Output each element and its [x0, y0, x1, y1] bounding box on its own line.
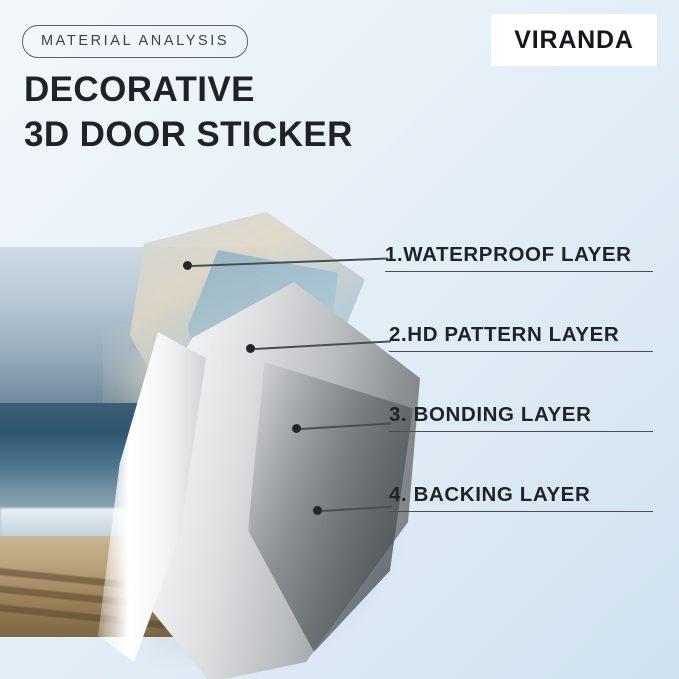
eyebrow-badge: MATERIAL ANALYSIS: [22, 25, 248, 58]
callout-dot-4: [313, 506, 322, 515]
page-title: DECORATIVE 3D DOOR STICKER: [24, 68, 353, 158]
callout-1-rule: [385, 271, 653, 273]
brand-logo-box: VIRANDA: [491, 14, 657, 66]
callout-dot-1: [183, 261, 192, 270]
callout-2-rule: [389, 351, 653, 353]
callout-3: 3. BONDING LAYER: [389, 403, 653, 432]
product-infographic: MATERIAL ANALYSIS DECORATIVE 3D DOOR STI…: [0, 0, 679, 679]
callout-4-label: 4. BACKING LAYER: [389, 483, 590, 506]
callout-2-label: 2.HD PATTERN LAYER: [389, 323, 619, 346]
callout-3-label: 3. BONDING LAYER: [389, 403, 592, 426]
callout-2: 2.HD PATTERN LAYER: [389, 323, 653, 352]
callout-4-rule: [389, 511, 653, 513]
callout-4: 4. BACKING LAYER: [389, 483, 653, 512]
callout-dot-3: [292, 424, 301, 433]
page-title-line1: DECORATIVE: [24, 70, 255, 109]
page-title-line2: 3D DOOR STICKER: [24, 113, 353, 158]
callout-3-rule: [389, 431, 653, 433]
product-photo: [0, 212, 420, 679]
brand-name: VIRANDA: [514, 26, 634, 55]
callout-dot-2: [246, 344, 255, 353]
callout-1: 1.WATERPROOF LAYER: [385, 243, 653, 272]
callout-1-label: 1.WATERPROOF LAYER: [385, 243, 632, 266]
